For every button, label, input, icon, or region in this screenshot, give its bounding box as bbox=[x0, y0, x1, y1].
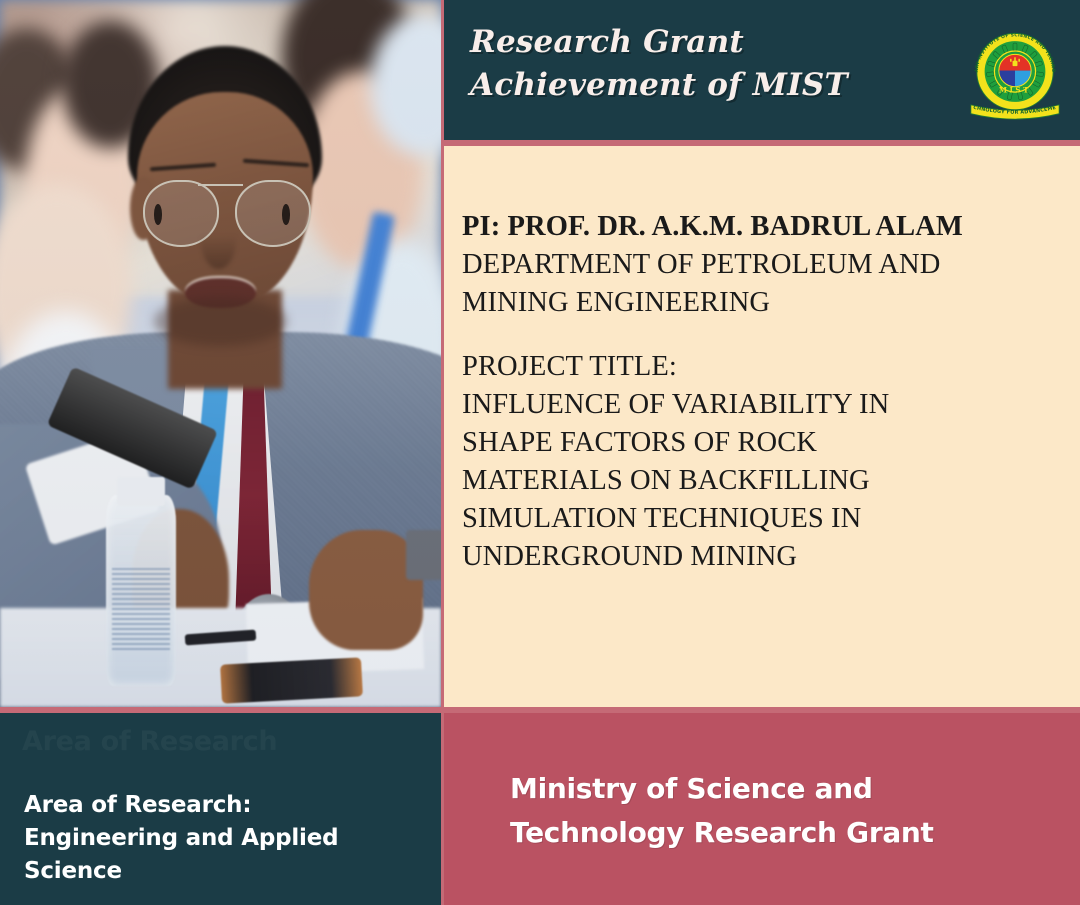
glasses-bridge bbox=[198, 184, 242, 186]
eye bbox=[154, 204, 163, 225]
project-title-line: INFLUENCE OF VARIABILITY IN bbox=[462, 386, 1056, 424]
svg-text:MIST: MIST bbox=[999, 86, 1031, 95]
speaker-photo bbox=[0, 0, 441, 707]
poster-root: Research Grant Achievement of MIST MILIT… bbox=[0, 0, 1080, 905]
project-title-line: UNDERGROUND MINING bbox=[462, 538, 1056, 576]
funding-body-text: Ministry of Science and Technology Resea… bbox=[510, 767, 1070, 855]
area-of-research-line-3: Science bbox=[24, 855, 404, 888]
project-details: PI: PROF. DR. A.K.M. BADRUL ALAM DEPARTM… bbox=[462, 208, 1056, 576]
poster-title-line-2: Achievement of MIST bbox=[470, 64, 940, 107]
eye bbox=[282, 204, 291, 225]
nose bbox=[201, 212, 236, 269]
funding-body-line-2: Technology Research Grant bbox=[510, 811, 1070, 855]
water-bottle-cap bbox=[117, 477, 166, 505]
department-line-1: DEPARTMENT OF PETROLEUM AND bbox=[462, 246, 1056, 284]
area-of-research-line-2: Engineering and Applied bbox=[24, 822, 404, 855]
poster-content: PI: PROF. DR. A.K.M. BADRUL ALAM DEPARTM… bbox=[444, 146, 1080, 707]
funding-body-panel: Ministry of Science and Technology Resea… bbox=[444, 710, 1080, 905]
poster-title-line-1: Research Grant bbox=[470, 24, 744, 60]
funding-body-line-1: Ministry of Science and bbox=[510, 767, 1070, 811]
project-title-line: SHAPE FACTORS OF ROCK bbox=[462, 424, 1056, 462]
poster-title: Research Grant Achievement of MIST bbox=[470, 21, 940, 107]
pi-name: PI: PROF. DR. A.K.M. BADRUL ALAM bbox=[462, 208, 1056, 246]
area-of-research-text: Area of Research: Engineering and Applie… bbox=[24, 789, 404, 888]
lens-right bbox=[235, 180, 310, 246]
smartphone bbox=[220, 657, 363, 703]
project-title-line: MATERIALS ON BACKFILLING bbox=[462, 462, 1056, 500]
paragraph-spacer bbox=[462, 322, 1056, 348]
mist-crest-logo: MILITARY INSTITUTE OF SCIENCE AND TECHNO… bbox=[966, 22, 1064, 126]
department-line-2: MINING ENGINEERING bbox=[462, 284, 1056, 322]
water-bottle-label bbox=[112, 566, 169, 651]
poster-header: Research Grant Achievement of MIST MILIT… bbox=[444, 0, 1080, 143]
area-of-research-panel: Area of Research Area of Research: Engin… bbox=[0, 710, 441, 905]
project-title-label: PROJECT TITLE: bbox=[462, 348, 1056, 386]
project-title-line: SIMULATION TECHNIQUES IN bbox=[462, 500, 1056, 538]
area-of-research-line-1: Area of Research: bbox=[24, 789, 404, 822]
photo-illustration bbox=[0, 0, 441, 707]
vertical-divider bbox=[441, 0, 444, 905]
watermark-text: Area of Research bbox=[22, 725, 382, 759]
wristwatch bbox=[406, 530, 441, 579]
chin-shadow bbox=[154, 297, 286, 346]
